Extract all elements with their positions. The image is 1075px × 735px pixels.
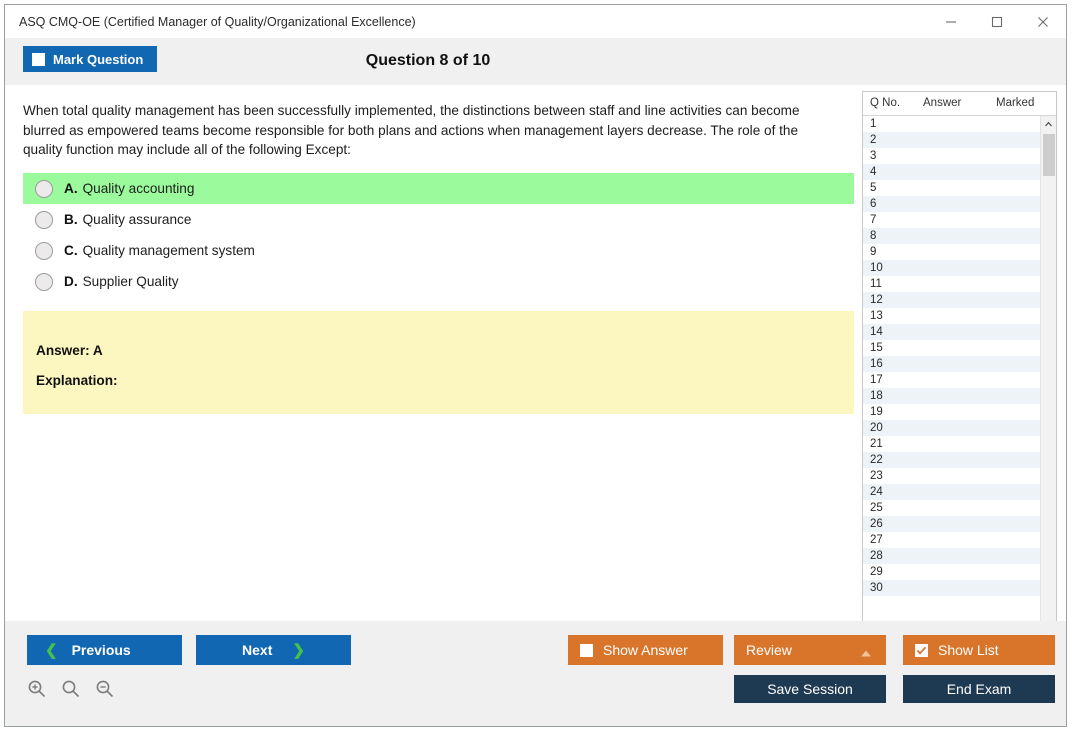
previous-label: Previous (72, 642, 131, 658)
save-session-label: Save Session (767, 681, 853, 697)
column-header-qno: Q No. (870, 97, 900, 109)
scrollbar-thumb[interactable] (1043, 134, 1055, 176)
scroll-up-icon[interactable] (1041, 116, 1056, 132)
review-dropdown[interactable]: Review (734, 635, 886, 665)
next-label: Next (242, 642, 272, 658)
close-icon[interactable] (1020, 5, 1066, 38)
question-list-row[interactable]: 5 (863, 180, 1040, 196)
question-list-row[interactable]: 27 (863, 532, 1040, 548)
footer-bar: ❮ Previous Next ❯ Show Answer Review (5, 621, 1066, 726)
question-list-row[interactable]: 6 (863, 196, 1040, 212)
answer-label: Answer: A (36, 343, 103, 358)
question-counter: Question 8 of 10 (5, 52, 1066, 70)
option-c-text: Quality management system (83, 243, 255, 258)
question-list-row[interactable]: 17 (863, 372, 1040, 388)
content-area: When total quality management has been s… (5, 85, 1066, 726)
show-list-label: Show List (938, 642, 999, 658)
question-list-row[interactable]: 28 (863, 548, 1040, 564)
review-label: Review (746, 642, 792, 658)
question-list-row[interactable]: 29 (863, 564, 1040, 580)
end-exam-label: End Exam (947, 681, 1012, 697)
question-list-row[interactable]: 3 (863, 148, 1040, 164)
end-exam-button[interactable]: End Exam (903, 675, 1055, 703)
question-list-row[interactable]: 21 (863, 436, 1040, 452)
question-list-row[interactable]: 8 (863, 228, 1040, 244)
question-list-row[interactable]: 2 (863, 132, 1040, 148)
chevron-up-icon (860, 645, 872, 661)
zoom-in-icon[interactable] (27, 679, 47, 704)
title-bar: ASQ CMQ-OE (Certified Manager of Quality… (5, 5, 1066, 38)
question-list-row[interactable]: 23 (863, 468, 1040, 484)
question-list-row[interactable]: 11 (863, 276, 1040, 292)
zoom-out-icon[interactable] (95, 679, 115, 704)
next-button[interactable]: Next ❯ (196, 635, 351, 665)
zoom-controls (27, 679, 115, 704)
question-list-row[interactable]: 22 (863, 452, 1040, 468)
option-b-letter: B. (64, 212, 78, 227)
option-d-letter: D. (64, 274, 78, 289)
options-list: A. Quality accounting B. Quality assuran… (23, 173, 854, 297)
question-list-row[interactable]: 9 (863, 244, 1040, 260)
explanation-label: Explanation: (36, 373, 118, 388)
question-list-row[interactable]: 7 (863, 212, 1040, 228)
option-b-text: Quality assurance (83, 212, 192, 227)
question-list-row[interactable]: 30 (863, 580, 1040, 596)
option-a[interactable]: A. Quality accounting (23, 173, 854, 204)
search-icon[interactable] (61, 679, 81, 704)
option-d[interactable]: D. Supplier Quality (23, 266, 854, 297)
radio-icon-a[interactable] (35, 180, 53, 198)
question-list-row[interactable]: 4 (863, 164, 1040, 180)
question-list-row[interactable]: 20 (863, 420, 1040, 436)
question-list-row[interactable]: 1 (863, 116, 1040, 132)
show-answer-button[interactable]: Show Answer (568, 635, 723, 665)
radio-icon-b[interactable] (35, 211, 53, 229)
option-c-letter: C. (64, 243, 78, 258)
option-d-text: Supplier Quality (83, 274, 179, 289)
question-list-row[interactable]: 14 (863, 324, 1040, 340)
question-list-row[interactable]: 16 (863, 356, 1040, 372)
question-list-header: Q No. Answer Marked (863, 92, 1056, 116)
question-text: When total quality management has been s… (23, 101, 841, 160)
previous-button[interactable]: ❮ Previous (27, 635, 182, 665)
save-session-button[interactable]: Save Session (734, 675, 886, 703)
chevron-left-icon: ❮ (45, 641, 58, 659)
show-answer-label: Show Answer (603, 642, 688, 658)
question-list-row[interactable]: 18 (863, 388, 1040, 404)
column-header-marked: Marked (996, 97, 1034, 109)
option-b[interactable]: B. Quality assurance (23, 204, 854, 235)
radio-icon-d[interactable] (35, 273, 53, 291)
column-header-answer: Answer (923, 97, 961, 109)
question-list-row[interactable]: 13 (863, 308, 1040, 324)
window-title: ASQ CMQ-OE (Certified Manager of Quality… (19, 15, 416, 29)
option-a-letter: A. (64, 181, 78, 196)
question-list-panel: Q No. Answer Marked 12345678910111213141… (862, 91, 1057, 633)
question-list-row[interactable]: 15 (863, 340, 1040, 356)
show-list-checkbox-icon (915, 644, 928, 657)
window-controls (928, 5, 1066, 38)
exam-application-window: ASQ CMQ-OE (Certified Manager of Quality… (0, 0, 1075, 735)
question-list-row[interactable]: 10 (863, 260, 1040, 276)
option-c[interactable]: C. Quality management system (23, 235, 854, 266)
question-list-row[interactable]: 26 (863, 516, 1040, 532)
question-list-row[interactable]: 24 (863, 484, 1040, 500)
question-list-rows: 1234567891011121314151617181920212223242… (863, 116, 1040, 632)
chevron-right-icon: ❯ (292, 641, 305, 659)
show-list-button[interactable]: Show List (903, 635, 1055, 665)
question-list-row[interactable]: 19 (863, 404, 1040, 420)
question-list-row[interactable]: 25 (863, 500, 1040, 516)
radio-icon-c[interactable] (35, 242, 53, 260)
show-answer-checkbox-icon (580, 644, 593, 657)
question-list-scrollbar[interactable] (1040, 116, 1056, 632)
maximize-icon[interactable] (974, 5, 1020, 38)
toolbar: Mark Question Question 8 of 10 (5, 38, 1066, 85)
window-frame: ASQ CMQ-OE (Certified Manager of Quality… (4, 4, 1067, 727)
answer-explanation-panel: Answer: A Explanation: (23, 311, 854, 414)
option-a-text: Quality accounting (83, 181, 195, 196)
minimize-icon[interactable] (928, 5, 974, 38)
question-list-row[interactable]: 12 (863, 292, 1040, 308)
